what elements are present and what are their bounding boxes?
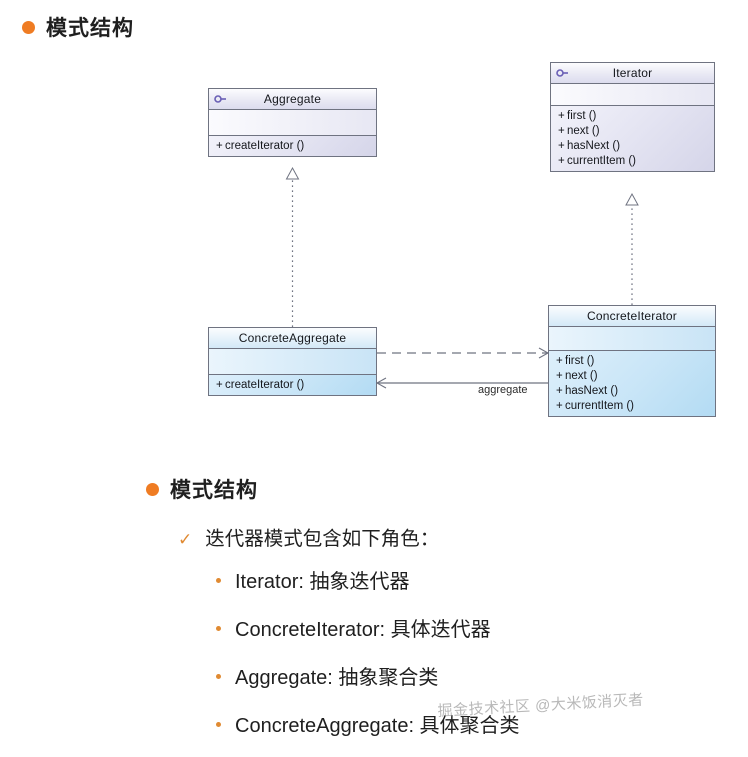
uml-class-aggregate[interactable]: Aggregate +createIterator () <box>208 88 377 157</box>
uml-method: +hasNext () <box>549 383 715 398</box>
uml-method: +next () <box>551 123 714 138</box>
uml-method-signature: next () <box>565 370 598 382</box>
list-bullet-icon <box>216 626 221 631</box>
uml-class-name: Aggregate <box>264 92 321 106</box>
uml-attributes-compartment <box>549 327 715 351</box>
list-bullet-icon <box>216 722 221 727</box>
list-item: ConcreteIterator: 具体迭代器 <box>216 613 736 661</box>
list-item: ConcreteAggregate: 具体聚合类 <box>216 709 736 757</box>
uml-class-diagram: Aggregate +createIterator () Iterator +f… <box>0 50 748 460</box>
section-heading-pattern-structure: 模式结构 <box>146 474 258 504</box>
uml-method-signature: currentItem () <box>565 400 634 412</box>
uml-methods-compartment: +first () +next () +hasNext () +currentI… <box>549 351 715 416</box>
uml-method-signature: hasNext () <box>567 140 620 152</box>
list-item: Aggregate: 抽象聚合类 <box>216 661 736 709</box>
uml-class-title: ConcreteIterator <box>549 306 715 327</box>
uml-method: +next () <box>549 368 715 383</box>
uml-method-signature: next () <box>567 125 600 137</box>
list-item-label: Aggregate: 抽象聚合类 <box>235 661 438 690</box>
uml-method-visibility: + <box>216 379 225 391</box>
uml-method-visibility: + <box>558 110 567 122</box>
uml-method: +createIterator () <box>209 377 376 392</box>
list-item-label: ConcreteAggregate: 具体聚合类 <box>235 709 520 738</box>
uml-methods-compartment: +createIterator () <box>209 136 376 156</box>
uml-class-title: Aggregate <box>209 89 376 110</box>
section-heading-text: 模式结构 <box>170 474 258 504</box>
uml-class-name: ConcreteAggregate <box>239 331 346 345</box>
uml-class-name: ConcreteIterator <box>587 309 677 323</box>
uml-class-title: ConcreteAggregate <box>209 328 376 349</box>
page-title-text: 模式结构 <box>46 12 134 42</box>
interface-lollipop-icon <box>214 95 227 103</box>
uml-method-visibility: + <box>558 140 567 152</box>
uml-method-signature: hasNext () <box>565 385 618 397</box>
uml-method-visibility: + <box>556 385 565 397</box>
uml-methods-compartment: +createIterator () <box>209 375 376 395</box>
uml-class-iterator[interactable]: Iterator +first () +next () +hasNext () … <box>550 62 715 172</box>
list-bullet-icon <box>216 578 221 583</box>
roles-intro-text: 迭代器模式包含如下角色： <box>205 522 439 551</box>
uml-method-visibility: + <box>216 140 225 152</box>
uml-attributes-compartment <box>551 84 714 106</box>
list-item-label: Iterator: 抽象迭代器 <box>235 565 409 594</box>
uml-class-title: Iterator <box>551 63 714 84</box>
uml-attributes-compartment <box>209 349 376 375</box>
page-title: 模式结构 <box>22 12 134 42</box>
uml-method-signature: first () <box>565 355 594 367</box>
interface-lollipop-icon <box>556 69 569 77</box>
list-item: Iterator: 抽象迭代器 <box>216 565 736 613</box>
list-bullet-icon <box>216 674 221 679</box>
roles-list: Iterator: 抽象迭代器 ConcreteIterator: 具体迭代器 … <box>216 565 736 757</box>
uml-method-visibility: + <box>556 355 565 367</box>
uml-method: +createIterator () <box>209 138 376 153</box>
uml-method-signature: createIterator () <box>225 140 304 152</box>
uml-method-visibility: + <box>556 400 565 412</box>
uml-method-visibility: + <box>556 370 565 382</box>
uml-method: +first () <box>549 353 715 368</box>
check-icon: ✓ <box>178 531 192 548</box>
list-item-label: ConcreteIterator: 具体迭代器 <box>235 613 491 642</box>
uml-method-signature: createIterator () <box>225 379 304 391</box>
roles-intro-line: ✓ 迭代器模式包含如下角色： <box>178 522 439 551</box>
orange-bullet-icon <box>146 483 159 496</box>
uml-class-concrete-aggregate[interactable]: ConcreteAggregate +createIterator () <box>208 327 377 396</box>
uml-attributes-compartment <box>209 110 376 136</box>
orange-bullet-icon <box>22 21 35 34</box>
uml-method-signature: currentItem () <box>567 155 636 167</box>
uml-method: +currentItem () <box>549 398 715 413</box>
uml-class-concrete-iterator[interactable]: ConcreteIterator +first () +next () +has… <box>548 305 716 417</box>
uml-method: +first () <box>551 108 714 123</box>
uml-method: +currentItem () <box>551 153 714 168</box>
relation-label-aggregate: aggregate <box>478 384 528 396</box>
uml-method: +hasNext () <box>551 138 714 153</box>
uml-class-name: Iterator <box>613 66 653 80</box>
uml-method-signature: first () <box>567 110 596 122</box>
uml-method-visibility: + <box>558 155 567 167</box>
uml-methods-compartment: +first () +next () +hasNext () +currentI… <box>551 106 714 171</box>
uml-method-visibility: + <box>558 125 567 137</box>
